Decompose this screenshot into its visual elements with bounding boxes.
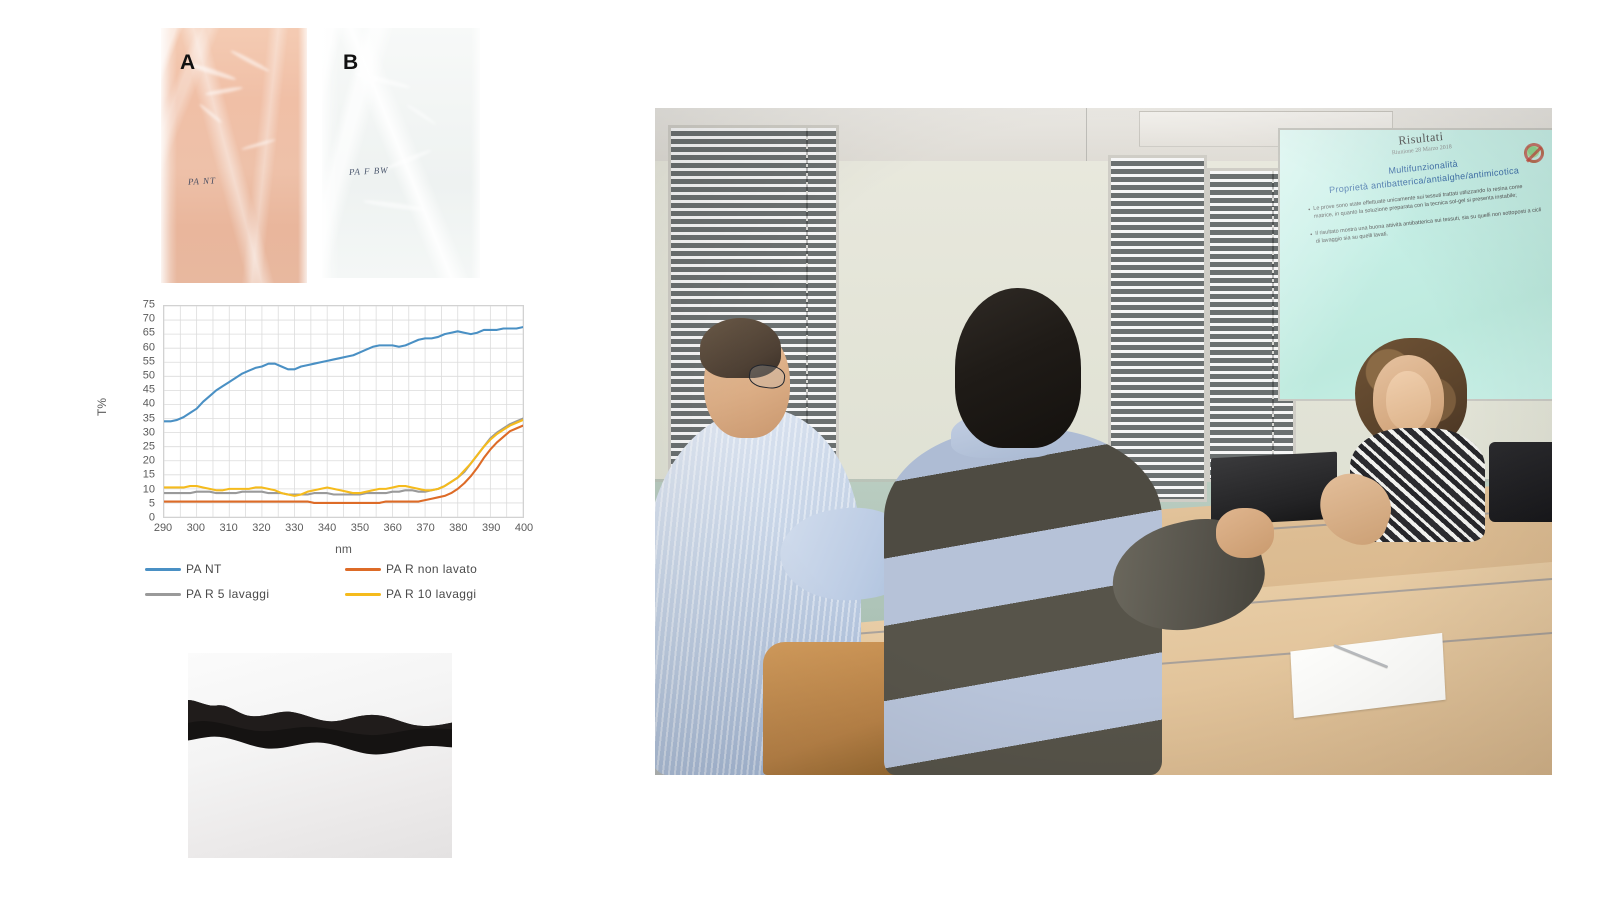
attendee-2-head xyxy=(955,288,1081,448)
chart-legend-item[interactable]: PA R 10 lavaggi xyxy=(345,587,545,601)
chart-y-tick-label: 20 xyxy=(143,456,155,467)
chart-x-tick-label: 350 xyxy=(351,522,369,534)
chart-y-tick-label: 10 xyxy=(143,484,155,495)
dark-fabric-strip xyxy=(188,686,452,764)
bag-seal-right-b xyxy=(471,28,480,278)
chart-x-tick-label: 340 xyxy=(318,522,336,534)
chart-x-tick-label: 310 xyxy=(219,522,237,534)
chart-y-tick-label: 40 xyxy=(143,399,155,410)
presentation-photo: Risultati Riunione 28 Marzo 2018 Multifu… xyxy=(655,108,1552,775)
chart-legend-item[interactable]: PA NT xyxy=(145,562,345,576)
chart-legend-swatch xyxy=(145,568,181,571)
chart-x-tick-label: 300 xyxy=(187,522,205,534)
chart-y-axis-ticks: 757065605550454035302520151050 xyxy=(100,305,158,518)
chart-legend-label: PA R 5 lavaggi xyxy=(186,587,269,601)
uv-transmittance-chart: T% 757065605550454035302520151050 290300… xyxy=(100,290,550,610)
chart-legend-swatch xyxy=(145,593,181,596)
chart-plot-area xyxy=(163,305,524,518)
chart-x-axis-title: nm xyxy=(163,542,524,556)
chart-y-tick-label: 5 xyxy=(149,498,155,509)
chart-legend-swatch xyxy=(345,568,381,571)
chart-y-tick-label: 50 xyxy=(143,371,155,382)
chart-y-tick-label: 45 xyxy=(143,385,155,396)
ceiling-tile-seam xyxy=(1086,108,1087,168)
chart-y-tick-label: 60 xyxy=(143,342,155,353)
chart-legend-label: PA R 10 lavaggi xyxy=(386,587,477,601)
attendee-2-hand xyxy=(1216,508,1274,558)
presenter-face xyxy=(1386,371,1431,431)
blind-cord xyxy=(1272,171,1274,478)
chart-x-tick-label: 290 xyxy=(154,522,172,534)
dark-fabric-photo xyxy=(188,653,452,858)
chart-legend-swatch xyxy=(345,593,381,596)
chart-x-tick-label: 380 xyxy=(449,522,467,534)
bag-seal-right-a xyxy=(298,28,307,283)
chart-legend-label: PA NT xyxy=(186,562,222,576)
sample-handwriting-b: PA F BW xyxy=(349,165,389,177)
bag-seal-left-a xyxy=(161,28,177,283)
chart-x-tick-label: 390 xyxy=(482,522,500,534)
chart-x-tick-label: 360 xyxy=(384,522,402,534)
chart-y-tick-label: 65 xyxy=(143,328,155,339)
chart-y-tick-label: 55 xyxy=(143,356,155,367)
no-bacteria-icon xyxy=(1524,143,1544,163)
chart-x-axis-ticks: 290300310320330340350360370380390400 xyxy=(163,522,524,538)
chart-gridlines xyxy=(164,306,523,517)
chart-y-tick-label: 25 xyxy=(143,442,155,453)
chart-legend-item[interactable]: PA R non lavato xyxy=(345,562,545,576)
chart-plot-background xyxy=(163,305,524,518)
chart-series-svg xyxy=(164,306,523,517)
panel-label-a: A xyxy=(180,52,195,73)
chart-x-tick-label: 320 xyxy=(252,522,270,534)
chart-x-tick-label: 330 xyxy=(285,522,303,534)
chair-right xyxy=(1489,442,1552,522)
figure-panel: A PA NT B PA F BW T% 7570656055504540353… xyxy=(0,0,620,900)
chart-x-tick-label: 370 xyxy=(416,522,434,534)
panel-label-b: B xyxy=(343,52,358,73)
window-center xyxy=(1108,155,1207,502)
chart-y-tick-label: 35 xyxy=(143,413,155,424)
chart-y-tick-label: 75 xyxy=(143,300,155,311)
chart-y-tick-label: 15 xyxy=(143,470,155,481)
sample-handwriting-a: PA NT xyxy=(188,175,216,186)
chart-legend-item[interactable]: PA R 5 lavaggi xyxy=(145,587,345,601)
chart-x-tick-label: 400 xyxy=(515,522,533,534)
bag-seal-left-b xyxy=(322,28,339,278)
chart-y-tick-label: 70 xyxy=(143,314,155,325)
window-blinds xyxy=(1111,158,1204,499)
chart-y-tick-label: 30 xyxy=(143,427,155,438)
chart-legend: PA NTPA R non lavatoPA R 5 lavaggiPA R 1… xyxy=(145,562,545,601)
chart-legend-label: PA R non lavato xyxy=(386,562,477,576)
